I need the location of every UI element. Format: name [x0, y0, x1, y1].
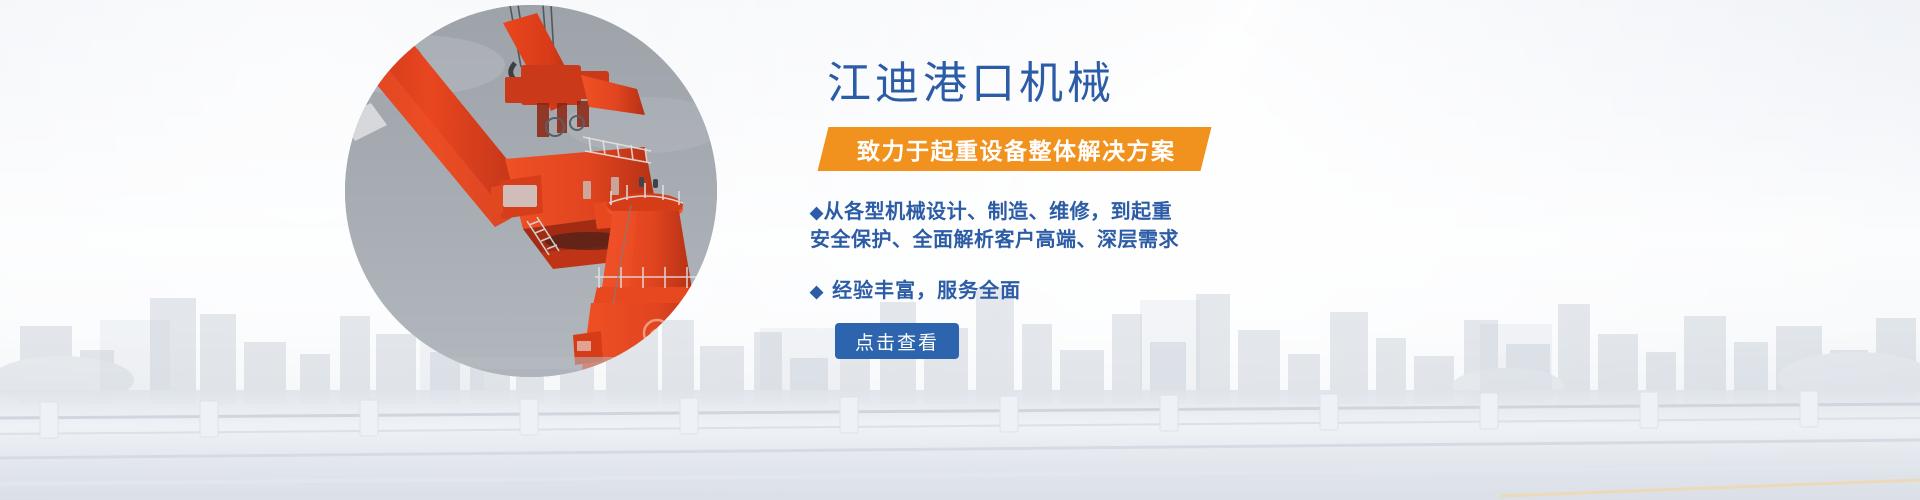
slogan-ribbon: 致力于起重设备整体解决方案 [818, 127, 1211, 171]
banner-content: 江迪港口机械 致力于起重设备整体解决方案 ◆从各型机械设计、制造、维修，到起重 … [805, 0, 1505, 500]
bullet-text-line-1: 经验丰富，服务全面 [832, 280, 1021, 302]
bullet-line: ◆从各型机械设计、制造、维修，到起重 [810, 198, 1500, 226]
bullet-text-line-2: 安全保护、全面解析客户高端、深层需求 [810, 226, 1500, 254]
crane-photo-circle [345, 5, 717, 377]
promo-banner: 江迪港口机械 致力于起重设备整体解决方案 ◆从各型机械设计、制造、维修，到起重 … [0, 0, 1920, 500]
diamond-bullet-icon: ◆ [810, 282, 824, 301]
diamond-bullet-icon: ◆ [810, 203, 824, 222]
feature-bullets: ◆从各型机械设计、制造、维修，到起重 安全保护、全面解析客户高端、深层需求 ◆经… [810, 198, 1500, 305]
crane-photo-graphic [345, 5, 717, 377]
view-details-button[interactable]: 点击查看 [835, 323, 959, 359]
bullet-text-line-1: 从各型机械设计、制造、维修，到起重 [824, 201, 1173, 223]
bullet-item-2: ◆经验丰富，服务全面 [810, 277, 1500, 305]
slogan-text: 致力于起重设备整体解决方案 [857, 132, 1176, 166]
page-title: 江迪港口机械 [827, 62, 1115, 106]
bullet-item-1: ◆从各型机械设计、制造、维修，到起重 安全保护、全面解析客户高端、深层需求 [810, 198, 1500, 255]
